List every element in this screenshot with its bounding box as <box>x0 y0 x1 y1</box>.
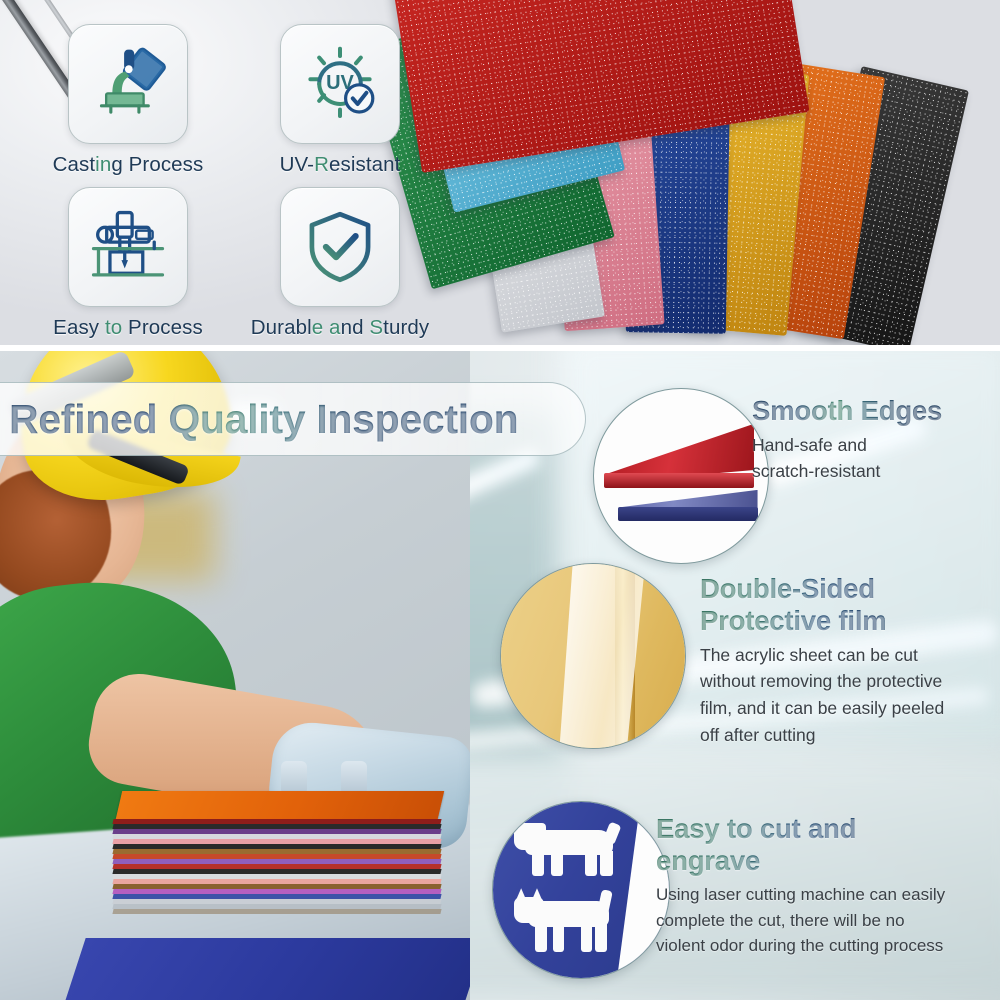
protective-film-body-line-2: without removing the protective <box>700 668 944 695</box>
protective-film-circle <box>500 563 686 749</box>
protective-film-body-line-4: off after cutting <box>700 722 944 749</box>
protective-film-heading-line-2: Protective film <box>700 605 944 637</box>
smooth-edges-heading: Smooth Edges <box>752 395 942 427</box>
cat-silhouette-leg <box>581 923 592 951</box>
smooth-edges-body-line-2: scratch-resistant <box>752 458 942 485</box>
blue-sheet-side <box>618 507 757 521</box>
protective-film-heading-line-1: Double-Sided <box>700 573 944 605</box>
feature-durable-sturdy[interactable]: Durable and Sturdy <box>246 187 434 340</box>
protective-film-body-line-1: The acrylic sheet can be cut <box>700 642 944 669</box>
dog-silhouette-leg <box>551 851 563 876</box>
bottom-inspection-panel: Refined Quality Inspection Smooth Edges … <box>0 351 1000 1000</box>
laser-cut-circle <box>492 801 670 979</box>
cat-silhouette-leg <box>595 923 606 951</box>
feature-casting-process[interactable]: Casting Process <box>34 24 222 177</box>
uv-resistant-tile: UV <box>280 24 400 144</box>
red-sheet-side <box>604 473 754 489</box>
easy-cut-body-line-1: Using laser cutting machine can easily <box>656 882 945 908</box>
feature-label-uv: UV-Resistant <box>280 153 401 177</box>
feature-easy-to-process[interactable]: Easy to Process <box>34 187 222 340</box>
shield-check-icon <box>301 208 379 286</box>
casting-ladle-icon <box>89 45 167 123</box>
dog-silhouette-leg <box>600 851 612 876</box>
cat-silhouette-leg <box>535 923 546 951</box>
glitter-sheet-stack <box>105 791 455 926</box>
durable-sturdy-tile <box>280 187 400 307</box>
cnc-machine-icon <box>87 206 169 288</box>
casting-process-tile <box>68 24 188 144</box>
easy-cut-heading-line-2: engrave <box>656 845 945 877</box>
feature-label-durable: Durable and Sturdy <box>251 316 429 340</box>
feature-uv-resistant[interactable]: UV UV-Resistant <box>246 24 434 177</box>
uv-sun-check-icon: UV <box>300 44 380 124</box>
section-title-banner: Refined Quality Inspection <box>0 382 586 456</box>
stack-layer <box>112 909 441 914</box>
easy-cut-heading-line-1: Easy to cut and <box>656 813 945 845</box>
cat-silhouette-leg <box>553 923 564 951</box>
clamp-right <box>341 761 367 795</box>
easy-to-process-tile <box>68 187 188 307</box>
dog-silhouette-leg <box>532 851 544 876</box>
feature-label-casting: Casting Process <box>53 153 204 177</box>
glitter-sheet-fan-photo <box>360 0 1000 345</box>
top-feature-panel: Casting Process <box>0 0 1000 345</box>
clamp-left <box>281 761 307 795</box>
product-infographic: Casting Process <box>0 0 1000 1000</box>
page-title: Refined Quality Inspection <box>9 396 518 443</box>
protective-film-text: Double-Sided Protective film The acrylic… <box>700 573 944 748</box>
easy-cut-text: Easy to cut and engrave Using laser cutt… <box>656 813 945 959</box>
smooth-edges-body: Hand-safe and scratch-resistant <box>752 432 942 485</box>
easy-cut-body-line-3: violent odor during the cutting process <box>656 933 945 959</box>
dog-silhouette-leg <box>585 851 597 876</box>
feature-icon-grid: Casting Process <box>34 24 434 336</box>
blue-glitter-base-sheet <box>48 938 470 1000</box>
protective-film-body-line-3: film, and it can be easily peeled <box>700 695 944 722</box>
protective-film-body: The acrylic sheet can be cut without rem… <box>700 642 944 748</box>
smooth-edges-circle <box>593 388 769 564</box>
easy-cut-body-line-2: complete the cut, there will be no <box>656 908 945 934</box>
smooth-edges-body-line-1: Hand-safe and <box>752 432 942 459</box>
easy-cut-body: Using laser cutting machine can easily c… <box>656 882 945 959</box>
feature-label-easy-process: Easy to Process <box>53 316 203 340</box>
stack-top-orange-sheet <box>116 791 444 819</box>
smooth-edges-text: Smooth Edges Hand-safe and scratch-resis… <box>752 395 942 485</box>
